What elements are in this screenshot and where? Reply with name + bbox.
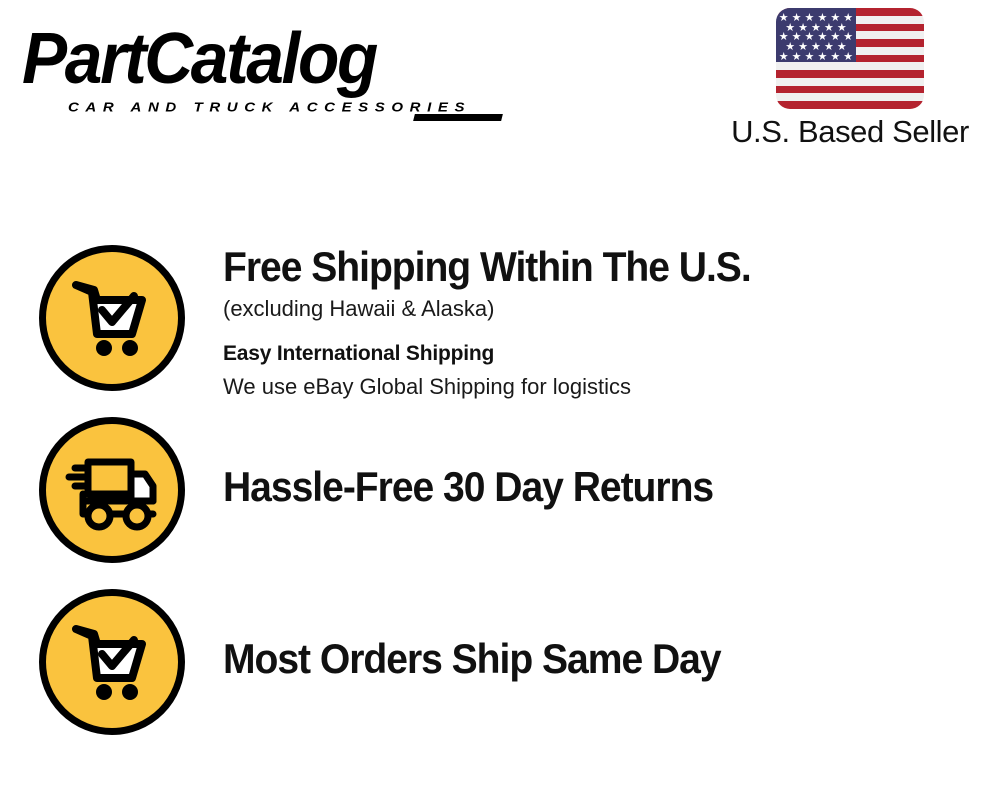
feature-title: Most Orders Ship Same Day xyxy=(223,634,946,684)
feature-secondary-title: Easy International Shipping xyxy=(223,337,1000,371)
us-flag-icon: ★ ★ ★ ★ ★ ★ ★ ★ ★ ★ ★ ★ ★ ★ ★ ★ ★ ★ ★ ★ … xyxy=(776,8,924,109)
brand-underline-swash xyxy=(413,114,503,121)
flag-canton: ★ ★ ★ ★ ★ ★ ★ ★ ★ ★ ★ ★ ★ ★ ★ ★ ★ ★ ★ ★ … xyxy=(776,8,856,62)
partcatalog-logo[interactable]: PartCatalog CAR AND TRUCK ACCESSORIES xyxy=(22,22,492,114)
shopping-cart-check-icon xyxy=(39,245,185,391)
flag-star-row: ★ ★ ★ ★ ★ ★ xyxy=(776,52,856,63)
seller-badge-label: U.S. Based Seller xyxy=(714,114,986,150)
feature-title: Hassle-Free 30 Day Returns xyxy=(223,462,946,512)
feature-icon-cell xyxy=(0,400,223,563)
feature-list: Free Shipping Within The U.S. (excluding… xyxy=(0,228,1000,744)
feature-subtitle: (excluding Hawaii & Alaska) xyxy=(223,292,1000,326)
feature-text-cell: Most Orders Ship Same Day xyxy=(223,572,1000,684)
feature-row: Hassle-Free 30 Day Returns xyxy=(0,400,1000,572)
page-header: PartCatalog CAR AND TRUCK ACCESSORIES ★ … xyxy=(0,0,1000,170)
feature-secondary-subtitle: We use eBay Global Shipping for logistic… xyxy=(223,371,1000,403)
delivery-truck-icon xyxy=(39,417,185,563)
brand-tagline: CAR AND TRUCK ACCESSORIES xyxy=(68,100,471,115)
feature-row: Free Shipping Within The U.S. (excluding… xyxy=(0,228,1000,400)
us-based-seller-badge: ★ ★ ★ ★ ★ ★ ★ ★ ★ ★ ★ ★ ★ ★ ★ ★ ★ ★ ★ ★ … xyxy=(714,8,986,150)
feature-row: Most Orders Ship Same Day xyxy=(0,572,1000,744)
feature-title: Free Shipping Within The U.S. xyxy=(223,242,946,292)
shopping-cart-check-icon xyxy=(39,589,185,735)
feature-icon-cell xyxy=(0,572,223,735)
feature-text-cell: Free Shipping Within The U.S. (excluding… xyxy=(223,228,1000,403)
feature-text-cell: Hassle-Free 30 Day Returns xyxy=(223,400,1000,512)
brand-wordmark: PartCatalog xyxy=(22,22,376,96)
feature-icon-cell xyxy=(0,228,223,391)
